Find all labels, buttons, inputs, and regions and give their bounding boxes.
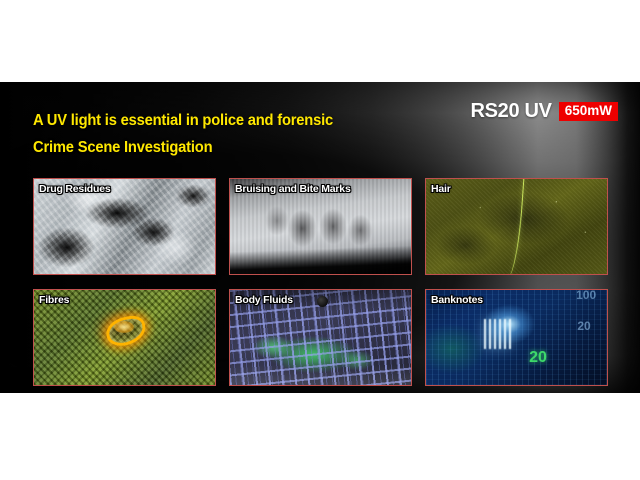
tile-bruising-and-bite-marks[interactable]: Bruising and Bite Marks: [229, 178, 412, 275]
uv-product-banner: A UV light is essential in police and fo…: [0, 82, 640, 393]
tile-body-fluids[interactable]: Body Fluids: [229, 289, 412, 386]
tile-drug-residues[interactable]: Drug Residues: [33, 178, 216, 275]
banknote-corner-20: 20: [577, 319, 590, 333]
tile-label: Banknotes: [431, 294, 483, 306]
tile-label: Hair: [431, 183, 451, 195]
tile-fibres[interactable]: Fibres: [33, 289, 216, 386]
headline: A UV light is essential in police and fo…: [33, 107, 333, 161]
hair-image: [426, 179, 607, 274]
power-badge: 650mW: [559, 102, 618, 121]
headline-line-2: Crime Scene Investigation: [33, 134, 333, 161]
tile-label: Drug Residues: [39, 183, 111, 195]
tile-label: Bruising and Bite Marks: [235, 183, 351, 195]
product-name: RS20 UV: [470, 100, 551, 123]
tile-banknotes[interactable]: 100 20 Banknotes: [425, 289, 608, 386]
tile-label: Body Fluids: [235, 294, 293, 306]
headline-line-1: A UV light is essential in police and fo…: [33, 112, 333, 129]
banknote-corner-100: 100: [576, 289, 596, 302]
tile-hair[interactable]: Hair: [425, 178, 608, 275]
tile-label: Fibres: [39, 294, 69, 306]
product-identity: RS20 UV 650mW: [470, 100, 618, 123]
application-tile-grid: Drug Residues Bruising and Bite Marks Ha…: [33, 178, 608, 386]
